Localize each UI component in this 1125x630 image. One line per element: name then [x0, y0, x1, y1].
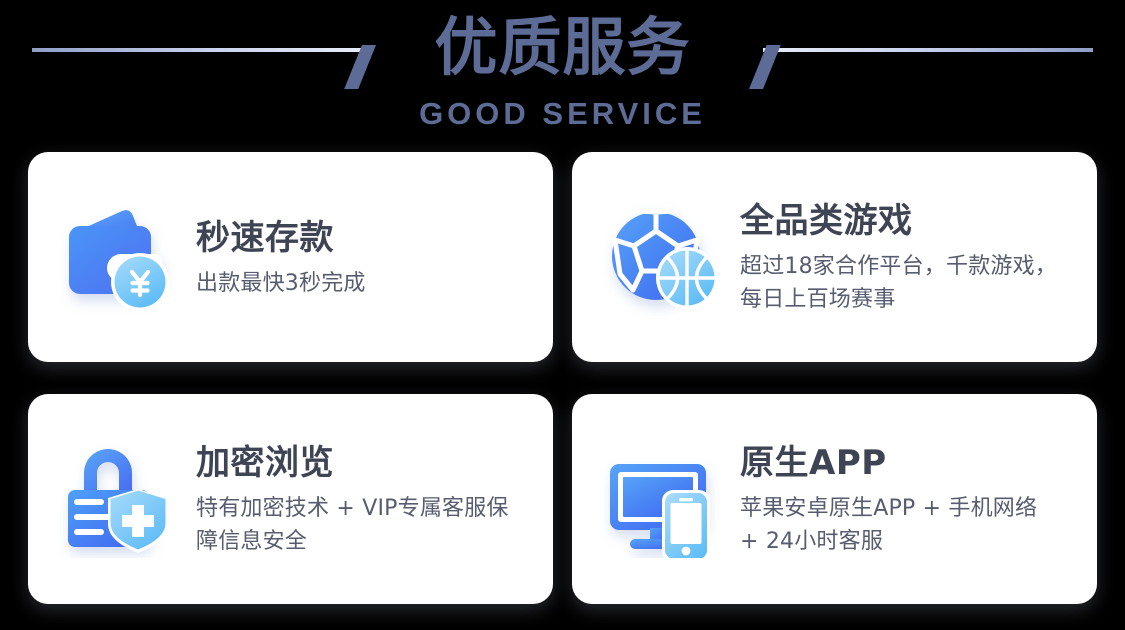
service-card-encryption[interactable]: 加密浏览 特有加密技术 + VIP专属客服保障信息安全	[28, 394, 553, 604]
page-subtitle: GOOD SERVICE	[0, 96, 1125, 132]
service-card-grid: 秒速存款 出款最快3秒完成	[28, 152, 1097, 604]
card-title: 原生APP	[740, 442, 1060, 484]
page-title: 优质服务	[0, 8, 1125, 88]
card-description: 特有加密技术 + VIP专属客服保障信息安全	[196, 492, 516, 558]
service-card-games[interactable]: 全品类游戏 超过18家合作平台，千款游戏，每日上百场赛事	[572, 152, 1097, 362]
card-title: 加密浏览	[196, 442, 516, 484]
card-description: 苹果安卓原生APP + 手机网络 + 24小时客服	[740, 492, 1060, 558]
service-card-native-app[interactable]: 原生APP 苹果安卓原生APP + 手机网络 + 24小时客服	[572, 394, 1097, 604]
card-text-block: 秒速存款 出款最快3秒完成	[196, 215, 366, 300]
card-text-block: 加密浏览 特有加密技术 + VIP专属客服保障信息安全	[196, 440, 516, 558]
page-header: 优质服务 GOOD SERVICE	[0, 0, 1125, 146]
lock-shield-icon	[60, 440, 182, 558]
soccer-basketball-icon	[604, 198, 726, 316]
card-title: 全品类游戏	[740, 200, 1060, 242]
card-title: 秒速存款	[196, 217, 366, 259]
monitor-phone-icon	[604, 440, 726, 558]
service-card-deposit[interactable]: 秒速存款 出款最快3秒完成	[28, 152, 553, 362]
card-description: 超过18家合作平台，千款游戏，每日上百场赛事	[740, 250, 1060, 316]
card-text-block: 原生APP 苹果安卓原生APP + 手机网络 + 24小时客服	[740, 440, 1060, 558]
card-description: 出款最快3秒完成	[196, 267, 366, 300]
card-text-block: 全品类游戏 超过18家合作平台，千款游戏，每日上百场赛事	[740, 198, 1060, 316]
wallet-yen-icon	[60, 198, 182, 316]
